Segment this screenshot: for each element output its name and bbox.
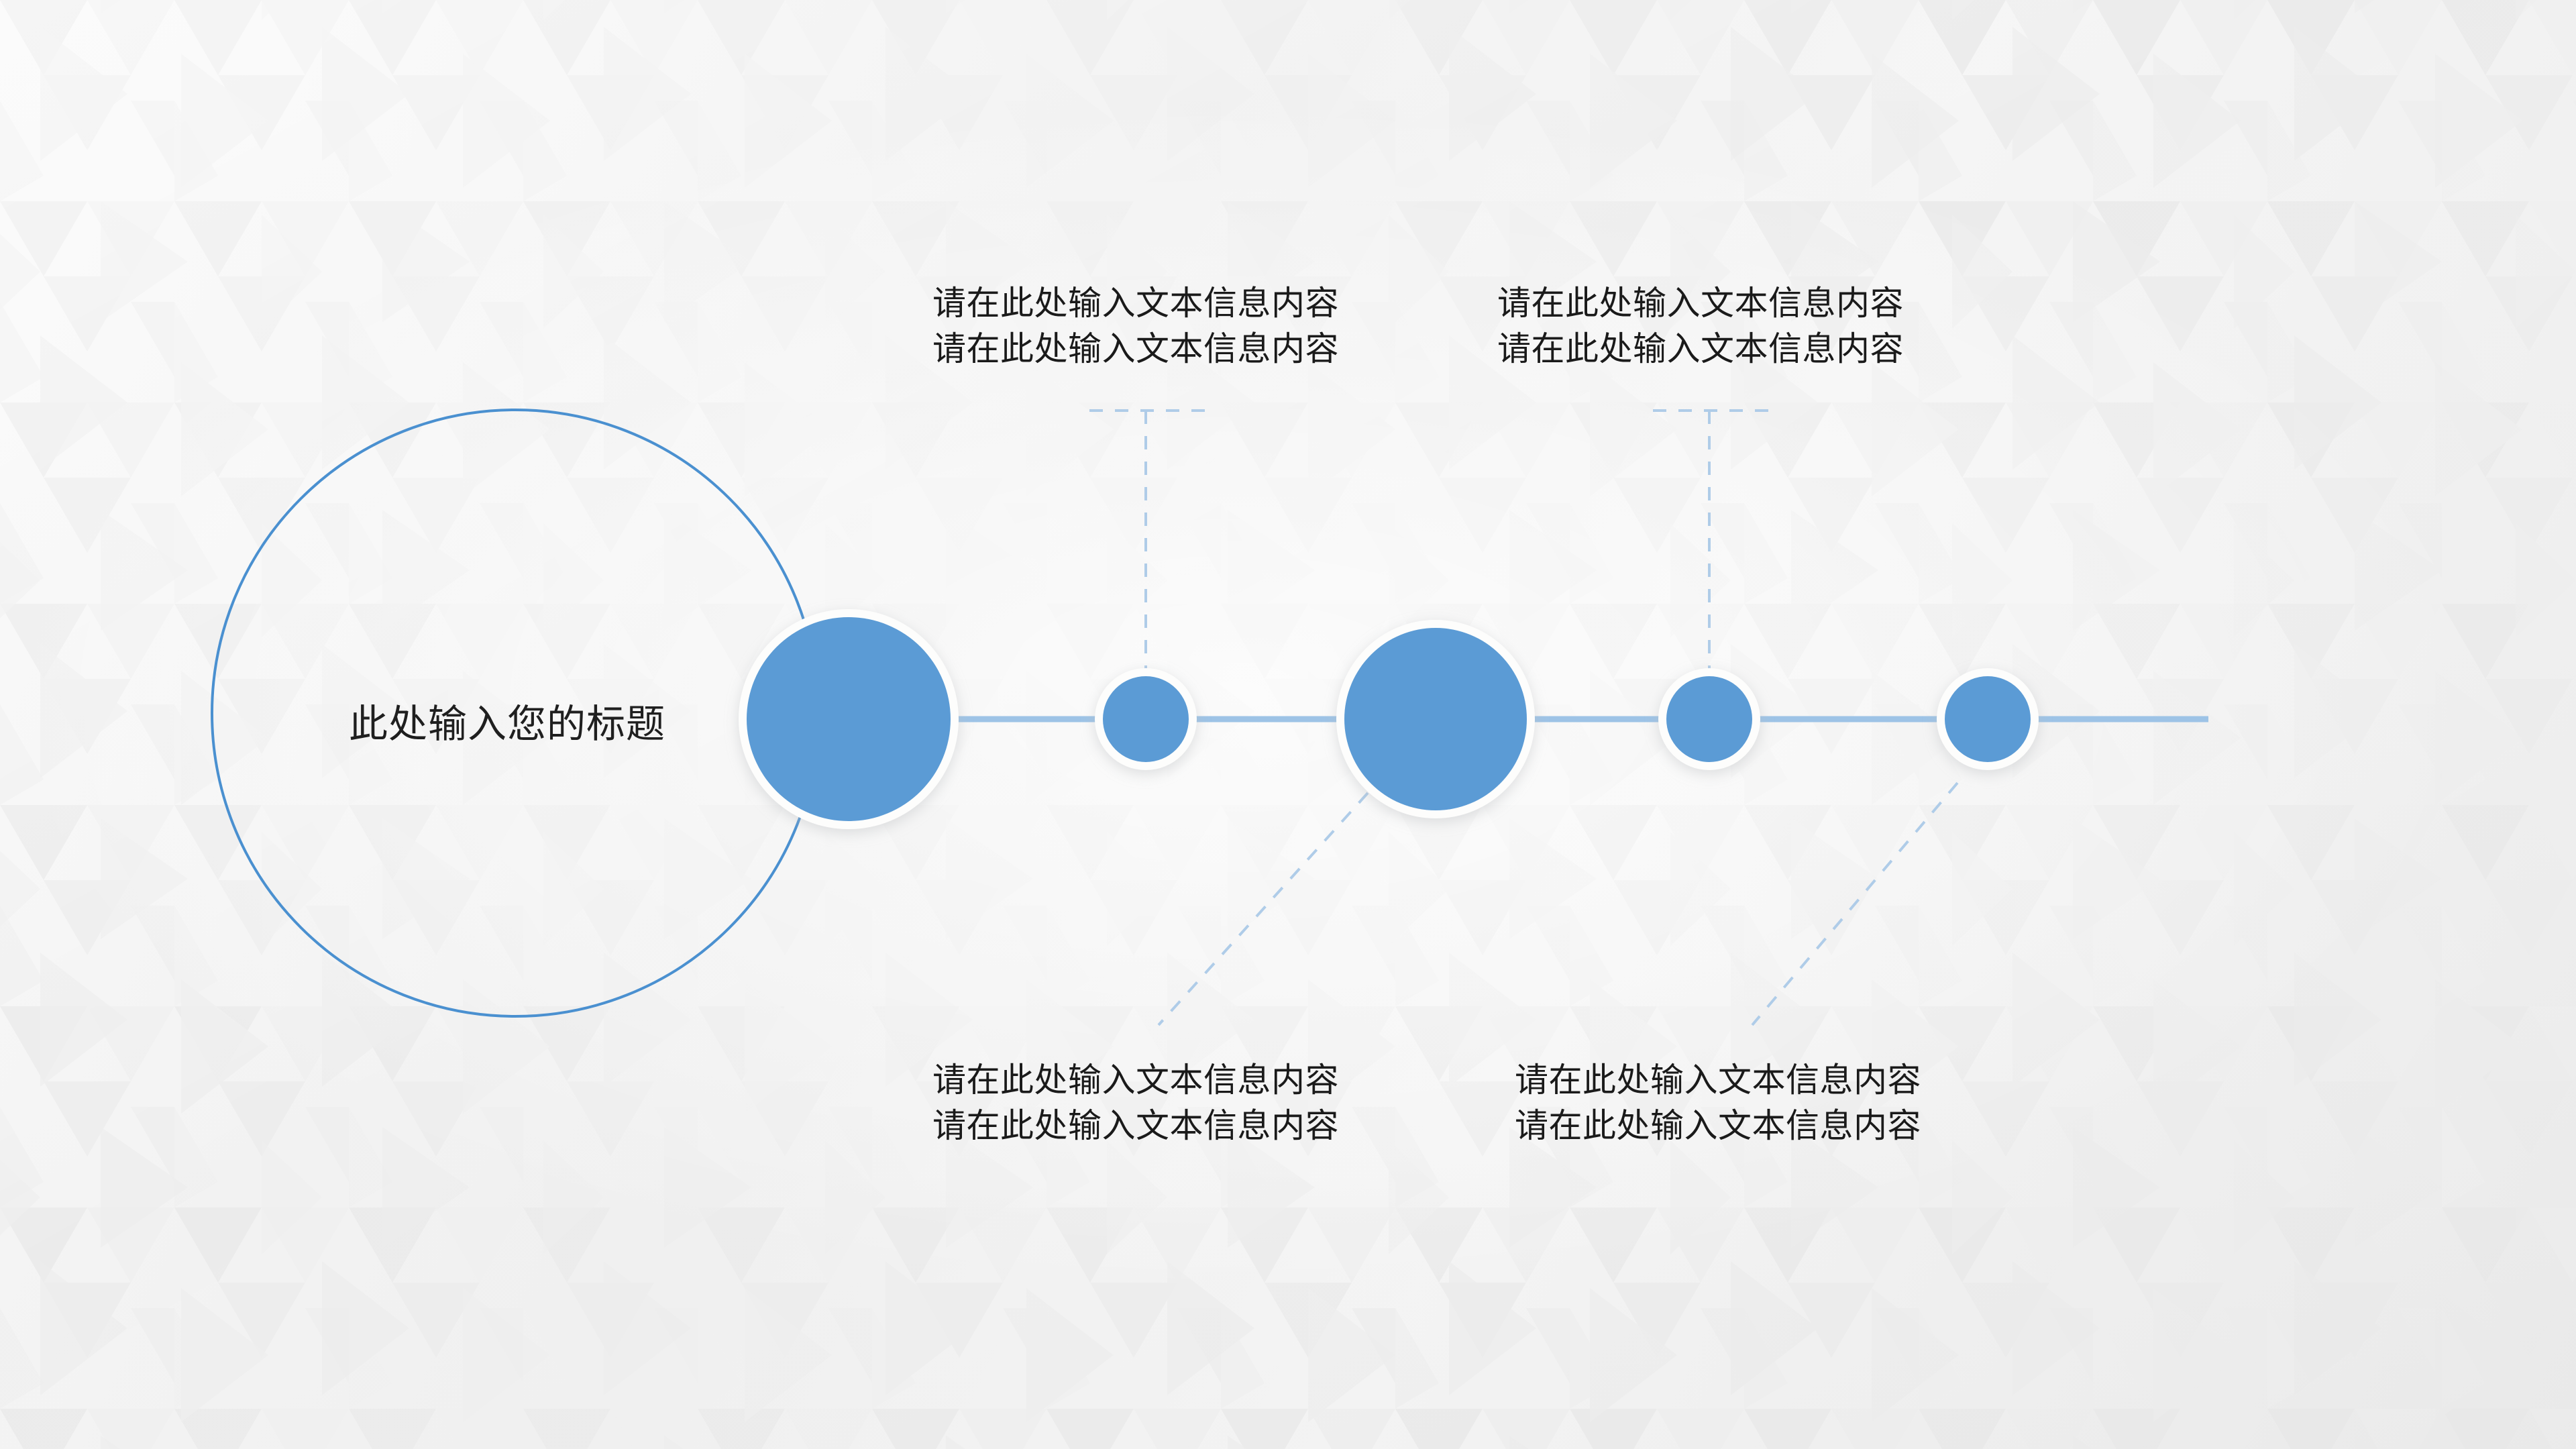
callout-top-right: 请在此处输入文本信息内容 请在此处输入文本信息内容 (1497, 280, 1904, 372)
slide-canvas: 此处输入您的标题 请在此处输入文本信息内容 请在此处输入文本信息内容 请在此处输… (0, 0, 2576, 1449)
callout-line: 请在此处输入文本信息内容 (932, 1057, 1339, 1103)
callout-line: 请在此处输入文本信息内容 (932, 280, 1339, 326)
node-2-fill (1103, 676, 1189, 762)
node-3-fill (1344, 628, 1527, 810)
callout-line: 请在此处输入文本信息内容 (1515, 1103, 1921, 1148)
callout-bottom-right: 请在此处输入文本信息内容 请在此处输入文本信息内容 (1515, 1057, 1921, 1148)
connector-bottom-left (1159, 793, 1368, 1025)
callout-line: 请在此处输入文本信息内容 (1497, 280, 1904, 326)
callout-line: 请在此处输入文本信息内容 (932, 1103, 1339, 1148)
connector-bottom-right (1752, 783, 1957, 1025)
node-5-fill (1945, 676, 2031, 762)
callout-bottom-left: 请在此处输入文本信息内容 请在此处输入文本信息内容 (932, 1057, 1339, 1148)
callout-line: 请在此处输入文本信息内容 (1497, 326, 1904, 372)
node-1-fill (747, 617, 951, 821)
callout-top-left: 请在此处输入文本信息内容 请在此处输入文本信息内容 (932, 280, 1339, 372)
callout-line: 请在此处输入文本信息内容 (932, 326, 1339, 372)
callout-line: 请在此处输入文本信息内容 (1515, 1057, 1921, 1103)
node-4-fill (1666, 676, 1752, 762)
page-title: 此处输入您的标题 (349, 692, 665, 749)
